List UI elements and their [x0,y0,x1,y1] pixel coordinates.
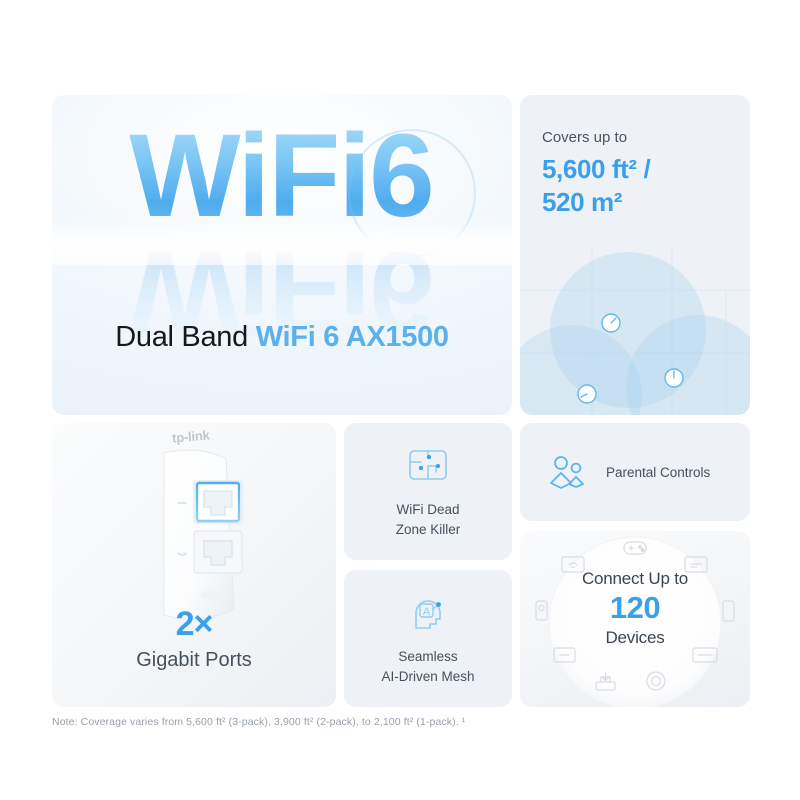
hero-caption: Dual Band WiFi 6 AX1500 [52,321,512,354]
coverage-value: 5,600 ft² / 520 m² [542,153,650,219]
card-parental-controls: Parental Controls [520,423,750,521]
floor-plan-icon [407,444,449,486]
coverage-lead: Covers up to [542,129,650,147]
feature-label-line2: AI-Driven Mesh [381,667,474,687]
feature-dead-zone-label: WiFi Dead Zone Killer [396,500,461,539]
hero-caption-prefix: Dual Band [115,321,256,353]
coverage-value-line1: 5,600 ft² / [542,153,650,186]
coverage-value-line2: 520 m² [542,186,650,219]
card-wifi6-hero: WiFi6 WiFi6 Dual Band WiFi 6 AX1500 [52,95,512,415]
card-gigabit-ports: tp-link 2× Gigabit Ports [52,423,336,707]
wifi6-word: WiFi [129,110,369,242]
ai-head-icon: A [407,591,449,633]
hero-caption-highlight: WiFi 6 AX1500 [256,321,449,353]
cards-grid: WiFi6 WiFi6 Dual Band WiFi 6 AX1500 [52,95,750,707]
card-ai-driven-mesh: A Seamless AI-Driven Mesh [344,570,512,707]
router-base-shadow [200,591,220,599]
wifi6-numeral: 6 [369,110,435,242]
card-connected-devices: Connect Up to 120 Devices [520,531,750,707]
feature-dead-zone: WiFi Dead Zone Killer [344,423,512,560]
ai-node-dot [436,602,441,607]
svg-text:A: A [423,606,431,618]
coverage-circles [520,252,750,415]
card-wifi-dead-zone-killer: WiFi Dead Zone Killer [344,423,512,560]
wifi6-logo-text: WiFi6 [129,117,435,235]
hero-inner: WiFi6 WiFi6 Dual Band WiFi 6 AX1500 [52,95,512,415]
ports-label: Gigabit Ports [52,649,336,672]
devices-line2: Devices [520,628,750,648]
devices-line1: Connect Up to [520,569,750,589]
feature-label-line1: Seamless [381,647,474,667]
devices-count: 120 [520,589,750,628]
devices-text: Connect Up to 120 Devices [520,569,750,648]
product-feature-grid: WiFi6 WiFi6 Dual Band WiFi 6 AX1500 [0,0,800,800]
parental-controls-label: Parental Controls [606,465,710,480]
feature-label-line2: Zone Killer [396,520,461,540]
feature-label-line1: WiFi Dead [396,500,461,520]
parent-child-icon [548,452,588,492]
feature-ai-mesh-label: Seamless AI-Driven Mesh [381,647,474,686]
coverage-text: Covers up to 5,600 ft² / 520 m² [542,129,650,219]
wifi6-logo: WiFi6 [52,117,512,235]
card-coverage: Covers up to 5,600 ft² / 520 m² [520,95,750,415]
feature-ai-mesh: A Seamless AI-Driven Mesh [344,570,512,707]
footnote: Note: Coverage varies from 5,600 ft² (3-… [52,716,465,728]
floor-plan-nodes [419,455,440,470]
ports-count: 2× [52,605,336,644]
